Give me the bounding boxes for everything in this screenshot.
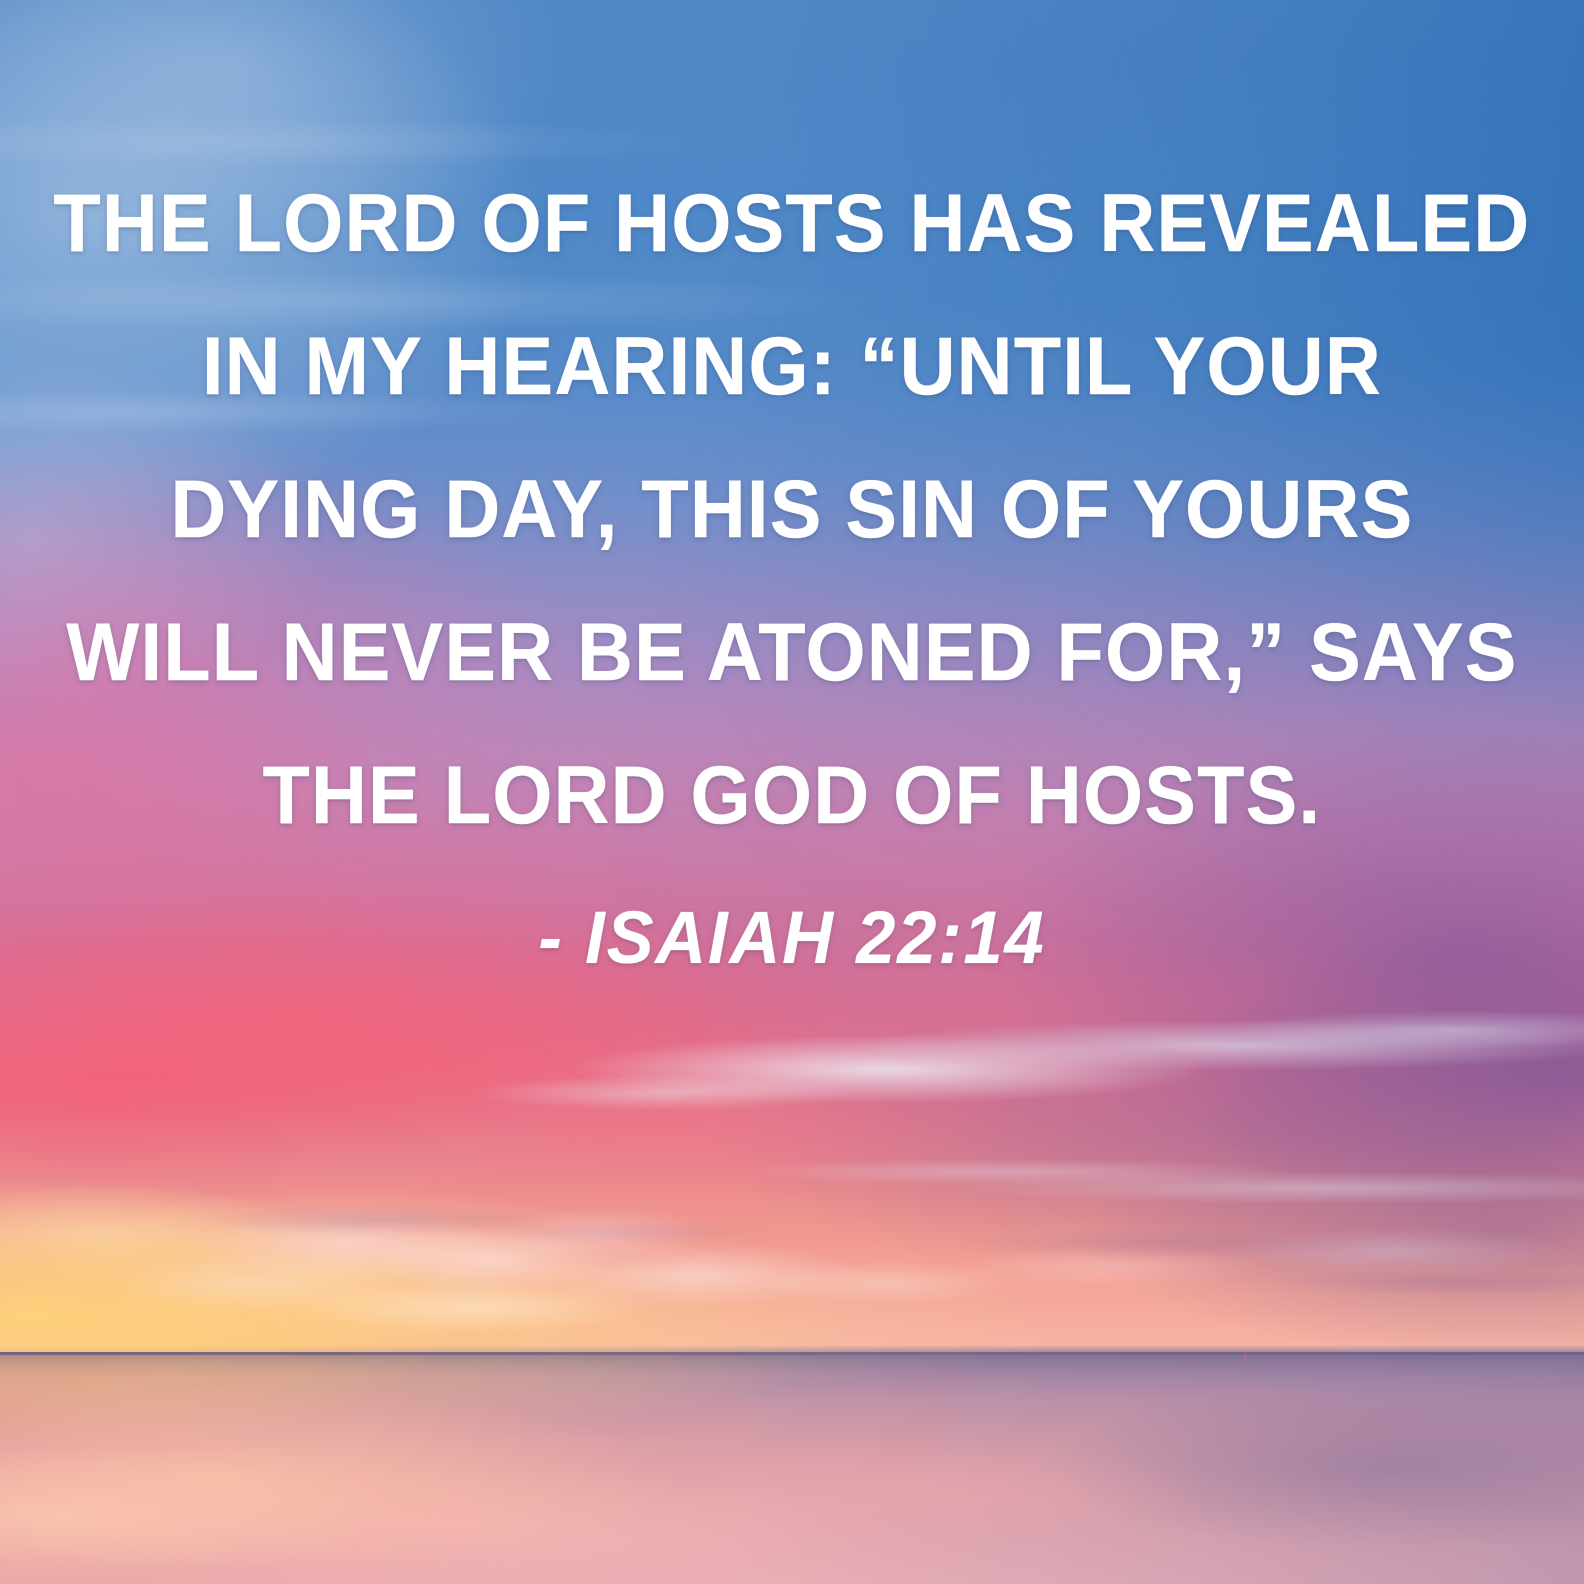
verse-image-canvas: THE LORD OF HOSTS HAS REVEALED IN MY HEA… (0, 0, 1584, 1584)
film-grain-texture (0, 0, 1584, 1584)
